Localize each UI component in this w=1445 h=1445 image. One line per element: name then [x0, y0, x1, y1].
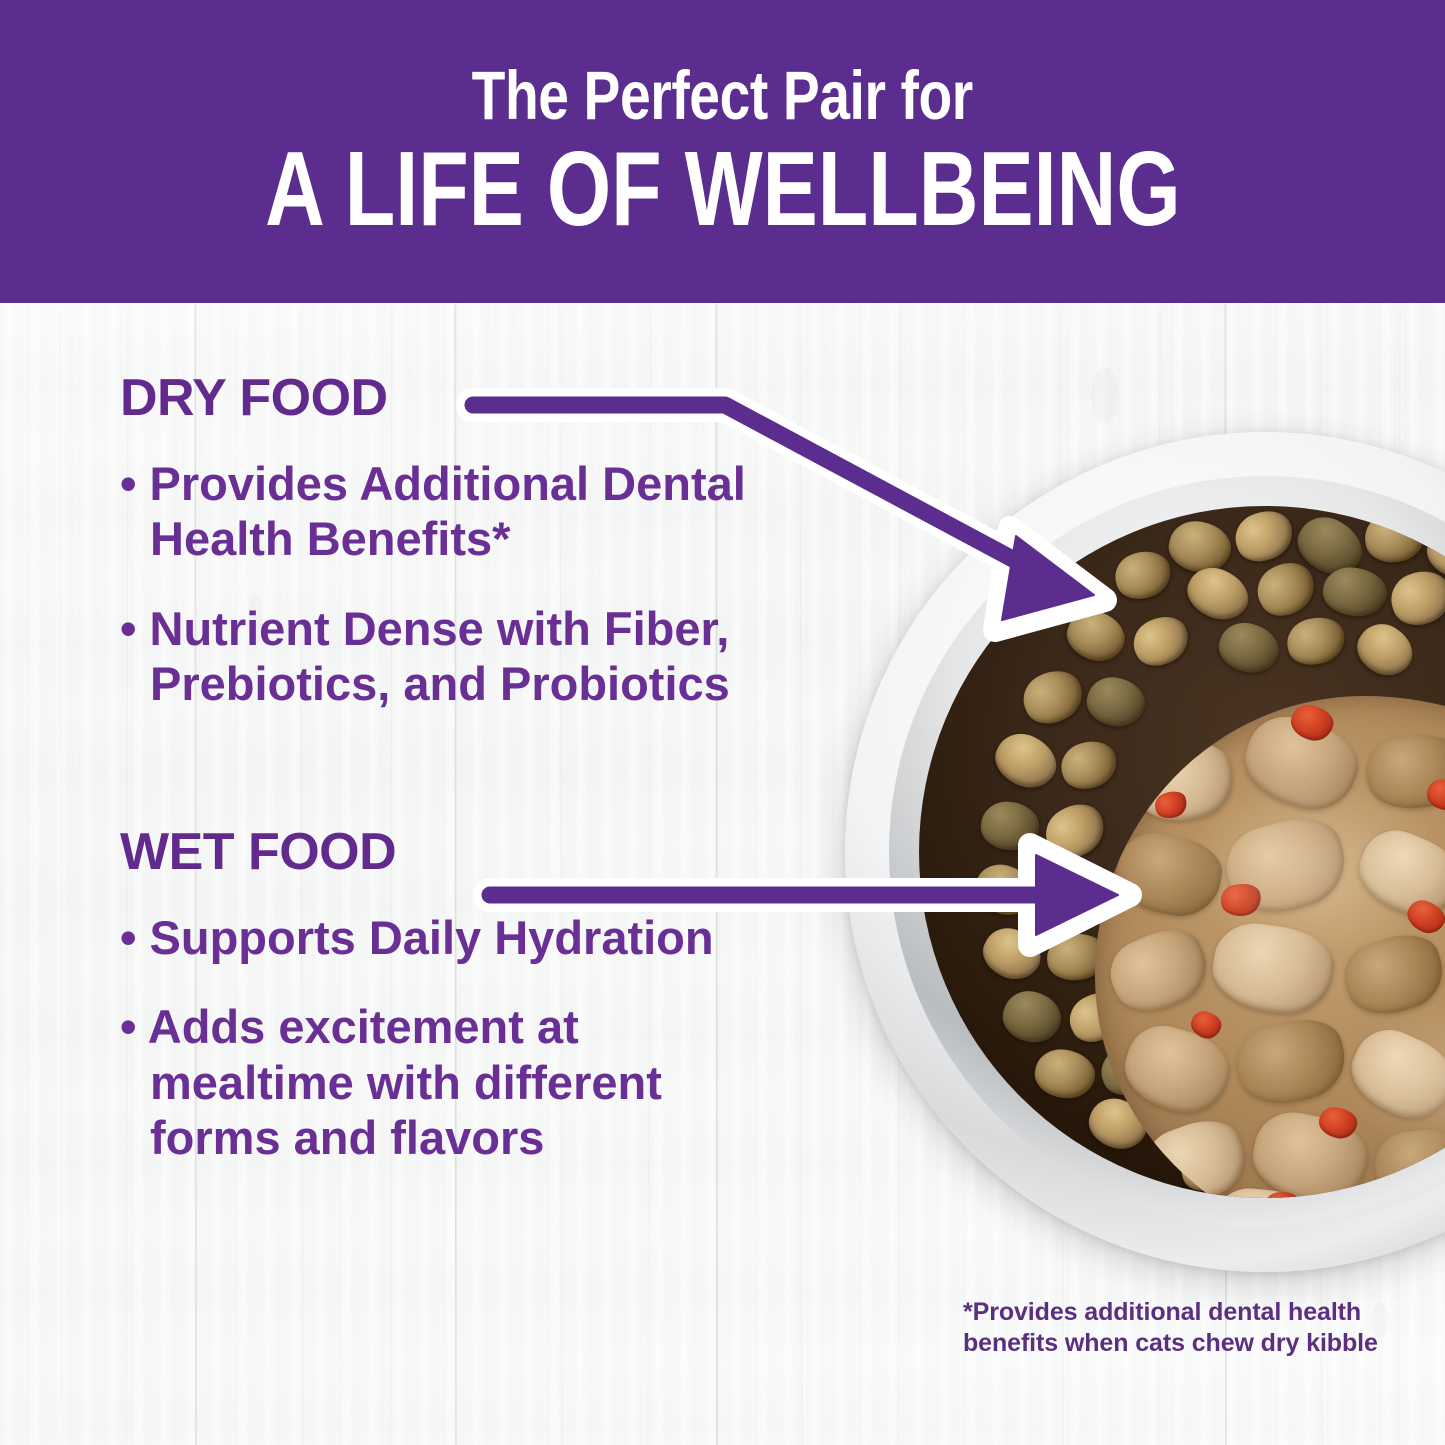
header-banner: The Perfect Pair for A LIFE OF WELLBEING: [0, 0, 1445, 303]
header-subtitle: The Perfect Pair for: [472, 61, 973, 130]
footnote-text: *Provides additional dental health benef…: [963, 1297, 1383, 1360]
bullet-dry-2: • Nutrient Dense with Fiber, Prebiotics,…: [120, 601, 780, 712]
section-heading-wet-food: WET FOOD: [120, 826, 780, 878]
bullet-wet-2: • Adds excitement at mealtime with diffe…: [120, 999, 780, 1165]
benefits-copy-column: DRY FOOD • Provides Additional Dental He…: [120, 372, 780, 1200]
cat-food-bowl-photo: [845, 432, 1445, 1272]
header-title: A LIFE OF WELLBEING: [265, 136, 1181, 242]
infographic-page: The Perfect Pair for A LIFE OF WELLBEING…: [0, 0, 1445, 1445]
bullet-dry-1: • Provides Additional Dental Health Bene…: [120, 456, 780, 567]
section-heading-dry-food: DRY FOOD: [120, 372, 780, 424]
bullet-wet-1: • Supports Daily Hydration: [120, 910, 780, 965]
wet-food-region: [1095, 696, 1445, 1198]
section-spacer: [120, 746, 780, 826]
